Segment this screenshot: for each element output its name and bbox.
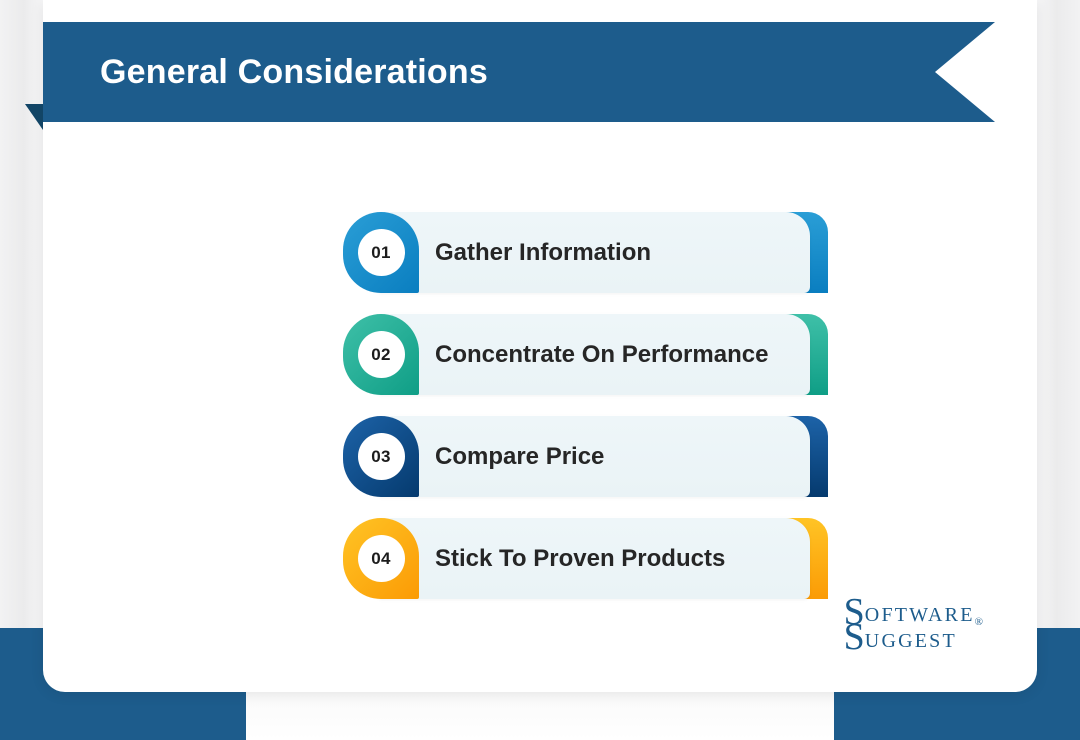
step-number: 03 xyxy=(358,433,405,480)
step-label: Compare Price xyxy=(435,416,604,497)
step-number: 02 xyxy=(358,331,405,378)
step-badge: 01 xyxy=(343,212,419,293)
step-label: Concentrate On Performance xyxy=(435,314,768,395)
logo-word-software: oftware xyxy=(865,605,975,628)
list-item[interactable]: 04 Stick To Proven Products xyxy=(343,518,828,599)
header-ribbon: General Considerations xyxy=(43,22,995,122)
page-title: General Considerations xyxy=(100,22,488,122)
step-label: Stick To Proven Products xyxy=(435,518,725,599)
registered-trademark-icon: ® xyxy=(975,617,983,628)
step-number: 04 xyxy=(358,535,405,582)
steps-list: 01 Gather Information 02 Concentrate On … xyxy=(343,212,828,599)
step-number: 01 xyxy=(358,229,405,276)
ribbon-fold-tab xyxy=(25,104,43,130)
list-item[interactable]: 03 Compare Price xyxy=(343,416,828,497)
logo-word-suggest: uggest xyxy=(865,631,957,654)
list-item[interactable]: 02 Concentrate On Performance xyxy=(343,314,828,395)
slide-canvas: General Considerations 01 Gather Informa… xyxy=(0,0,1080,740)
step-badge: 02 xyxy=(343,314,419,395)
step-label: Gather Information xyxy=(435,212,651,293)
step-badge: 03 xyxy=(343,416,419,497)
softwaresuggest-logo: S oftware ® S uggest xyxy=(844,596,983,654)
content-card: General Considerations 01 Gather Informa… xyxy=(43,0,1037,692)
logo-capital-s-bottom: S xyxy=(844,621,865,654)
step-badge: 04 xyxy=(343,518,419,599)
list-item[interactable]: 01 Gather Information xyxy=(343,212,828,293)
